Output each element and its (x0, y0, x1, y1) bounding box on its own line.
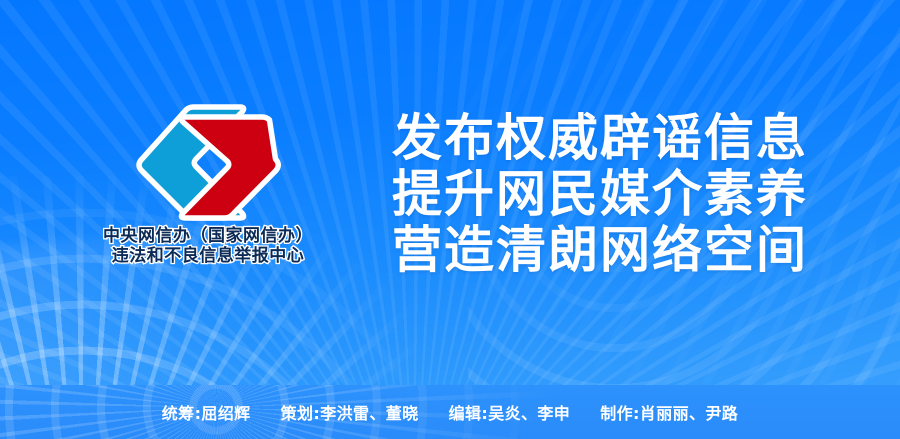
headline-line-2: 提升网民媒介素养 (392, 166, 822, 222)
headline-block: 发布权威辟谣信息 提升网民媒介素养 营造清朗网络空间 (392, 110, 822, 278)
report-center-logo-icon (133, 104, 283, 226)
logo-block: 中央网信办（国家网信办） 违法和不良信息举报中心 (78, 104, 338, 282)
credit-editor: 编辑:吴炎、李申 (449, 400, 571, 424)
logo-caption: 中央网信办（国家网信办） 违法和不良信息举报中心 (78, 226, 338, 266)
headline-line-1: 发布权威辟谣信息 (392, 110, 822, 166)
logo-caption-line-1: 中央网信办（国家网信办） (78, 226, 338, 246)
logo-caption-line-2: 违法和不良信息举报中心 (78, 246, 338, 266)
credit-planner: 策划:李洪雷、董晓 (281, 400, 419, 424)
poster-canvas: 中央网信办（国家网信办） 违法和不良信息举报中心 发布权威辟谣信息 提升网民媒介… (0, 0, 900, 439)
credits-bar: 统筹:屈绍辉 策划:李洪雷、董晓 编辑:吴炎、李申 制作:肖丽丽、尹路 (0, 385, 900, 439)
credits-list: 统筹:屈绍辉 策划:李洪雷、董晓 编辑:吴炎、李申 制作:肖丽丽、尹路 (162, 400, 738, 424)
credit-designer: 制作:肖丽丽、尹路 (600, 400, 738, 424)
headline-line-3: 营造清朗网络空间 (392, 222, 822, 278)
credit-producer: 统筹:屈绍辉 (162, 400, 251, 424)
